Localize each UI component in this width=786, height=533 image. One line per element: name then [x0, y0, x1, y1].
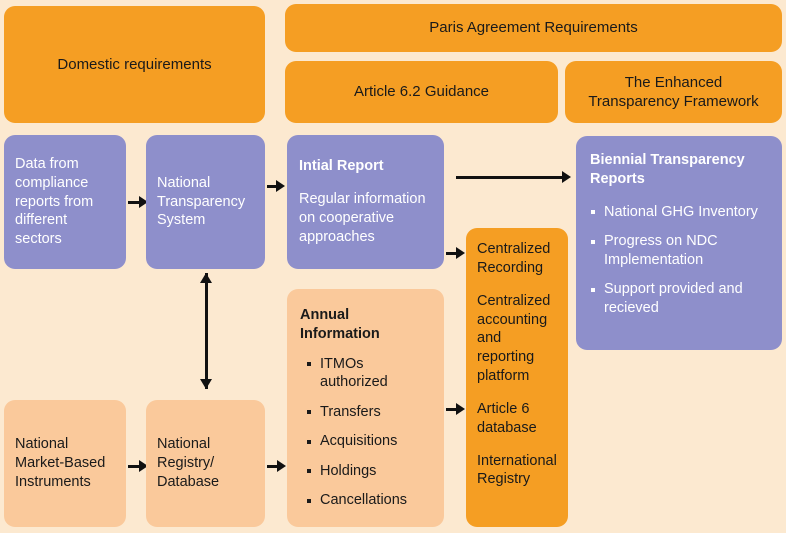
- nmbi-line1: National: [15, 436, 68, 452]
- data-sources-line1: Data from: [15, 156, 79, 172]
- box-national-transparency-system: National Transparency System: [146, 135, 265, 269]
- centralized-item2-line2: database: [477, 420, 537, 436]
- initial-report-title: Intial Report: [299, 157, 432, 176]
- etf-label-line1: The Enhanced: [625, 74, 723, 91]
- data-sources-line2: compliance: [15, 175, 88, 191]
- box-article-6-2-guidance: Article 6.2 Guidance: [285, 61, 558, 123]
- paris-agreement-label: Paris Agreement Requirements: [429, 18, 637, 38]
- list-item: Support provided and recieved: [590, 280, 768, 317]
- centralized-item1-line1: Centralized: [477, 293, 550, 309]
- initial-report-body: Regular information on cooperative appro…: [299, 190, 432, 247]
- list-item: Transfers: [306, 403, 431, 422]
- nts-line3: System: [157, 212, 205, 228]
- box-domestic-requirements: Domestic requirements: [4, 6, 265, 123]
- data-sources-line5: sectors: [15, 231, 62, 247]
- initial-report-body-line1: Regular information: [299, 191, 426, 207]
- box-national-registry-database: National Registry/ Database: [146, 400, 265, 527]
- annual-information-title: Annual Information: [300, 306, 431, 344]
- annual-title-line2: Information: [300, 326, 380, 342]
- centralized-heading: Centralized Recording: [477, 240, 557, 278]
- centralized-item1-line5: platform: [477, 368, 529, 384]
- arrow-head: [276, 180, 285, 192]
- list-item: ITMOs authorized: [306, 355, 431, 392]
- box-data-from-compliance-reports: Data from compliance reports from differ…: [4, 135, 126, 269]
- centralized-item1-line2: accounting: [477, 312, 547, 328]
- data-sources-line4: different: [15, 212, 67, 228]
- annual-title-line1: Annual: [300, 307, 349, 323]
- arrow-head: [456, 247, 465, 259]
- domestic-requirements-label: Domestic requirements: [57, 55, 211, 75]
- list-item: National GHG Inventory: [590, 203, 768, 222]
- nmbi-line3: Instruments: [15, 474, 91, 490]
- arrow-head: [562, 171, 571, 183]
- box-biennial-transparency-reports: Biennial Transparency Reports National G…: [576, 136, 782, 350]
- nmbi-label: National Market-Based Instruments: [15, 435, 115, 492]
- data-sources-label: Data from compliance reports from differ…: [15, 155, 115, 249]
- arrow-head: [456, 403, 465, 415]
- article-6-2-guidance-label: Article 6.2 Guidance: [354, 82, 489, 102]
- registry-line3: Database: [157, 474, 219, 490]
- btr-bullet-list: National GHG Inventory Progress on NDC I…: [590, 203, 768, 318]
- centralized-item3-line2: Registry: [477, 471, 530, 487]
- arrow-shaft: [456, 176, 564, 179]
- etf-label-line2: Transparency Framework: [588, 93, 758, 110]
- box-paris-agreement-requirements: Paris Agreement Requirements: [285, 4, 782, 52]
- btr-title-line2: Reports: [590, 171, 645, 187]
- nts-line1: National: [157, 175, 210, 191]
- centralized-item1-line3: and: [477, 330, 501, 346]
- list-item: Progress on NDC Implementation: [590, 232, 768, 269]
- centralized-heading-line1: Centralized: [477, 241, 550, 257]
- centralized-item3-line1: International: [477, 453, 557, 469]
- annual-information-bullet-list: ITMOs authorized Transfers Acquisitions …: [300, 355, 431, 510]
- btr-title-line1: Biennial Transparency: [590, 152, 745, 168]
- centralized-article-6-database: Article 6 database: [477, 400, 557, 438]
- box-national-market-based-instruments: National Market-Based Instruments: [4, 400, 126, 527]
- centralized-heading-line2: Recording: [477, 260, 543, 276]
- box-enhanced-transparency-framework: The Enhanced Transparency Framework: [565, 61, 782, 123]
- national-transparency-system-label: National Transparency System: [157, 174, 254, 231]
- etf-label-block: The Enhanced Transparency Framework: [588, 73, 758, 112]
- box-annual-information: Annual Information ITMOs authorized Tran…: [287, 289, 444, 527]
- registry-line1: National: [157, 436, 210, 452]
- centralized-item2-line1: Article 6: [477, 401, 529, 417]
- arrow-head-down: [200, 379, 212, 389]
- list-item: Holdings: [306, 462, 431, 481]
- centralized-international-registry: International Registry: [477, 452, 557, 490]
- initial-report-body-line3: approaches: [299, 229, 375, 245]
- box-initial-report: Intial Report Regular information on coo…: [287, 135, 444, 269]
- list-item: Acquisitions: [306, 432, 431, 451]
- data-sources-line3: reports from: [15, 194, 93, 210]
- centralized-accounting-platform: Centralized accounting and reporting pla…: [477, 292, 557, 386]
- nmbi-line2: Market-Based: [15, 455, 105, 471]
- list-item: Cancellations: [306, 491, 431, 510]
- national-registry-label: National Registry/ Database: [157, 435, 254, 492]
- arrow-head: [277, 460, 286, 472]
- nts-line2: Transparency: [157, 194, 245, 210]
- diagram-canvas: Domestic requirements Paris Agreement Re…: [0, 0, 786, 533]
- arrow-head-up: [200, 273, 212, 283]
- btr-title: Biennial Transparency Reports: [590, 151, 768, 189]
- centralized-item1-line4: reporting: [477, 349, 534, 365]
- arrow-shaft: [205, 273, 208, 389]
- initial-report-body-line2: on cooperative: [299, 210, 394, 226]
- box-centralized-recording: Centralized Recording Centralized accoun…: [466, 228, 568, 527]
- registry-line2: Registry/: [157, 455, 214, 471]
